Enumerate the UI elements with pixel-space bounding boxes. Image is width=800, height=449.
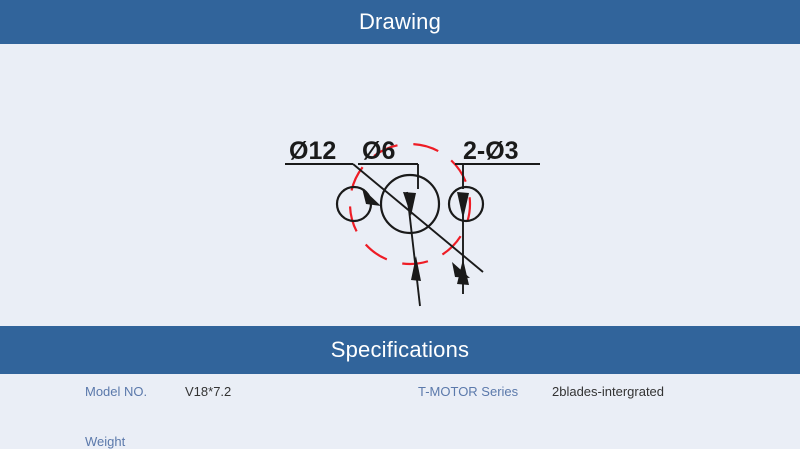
spec-value-model-no: V18*7.2 bbox=[185, 384, 231, 400]
section-header-specifications: Specifications bbox=[0, 326, 800, 374]
callout-label-dia6: Ø6 bbox=[362, 137, 395, 165]
technical-drawing-svg: Ø12 Ø6 2-Ø3 bbox=[0, 44, 800, 326]
callout-leader-dia12 bbox=[285, 164, 483, 278]
table-row: Model NO. V18*7.2 T-MOTOR Series 2blades… bbox=[0, 374, 800, 410]
callout-leader-2dia3 bbox=[455, 164, 540, 294]
callout-leader-dia6 bbox=[358, 164, 421, 306]
spec-label-weight: Weight bbox=[85, 434, 125, 449]
product-detail-page: Drawing bbox=[0, 0, 800, 449]
callout-label-dia12: Ø12 bbox=[289, 137, 336, 165]
spec-label-series: T-MOTOR Series bbox=[418, 384, 518, 400]
specifications-section-title: Specifications bbox=[331, 339, 470, 361]
spec-label-model-no: Model NO. bbox=[85, 384, 147, 400]
drawing-canvas: Ø12 Ø6 2-Ø3 bbox=[0, 44, 800, 326]
specifications-table: Model NO. V18*7.2 T-MOTOR Series 2blades… bbox=[0, 374, 800, 449]
callout-label-2dia3: 2-Ø3 bbox=[463, 137, 519, 165]
table-row: Weight bbox=[0, 424, 800, 449]
section-header-drawing: Drawing bbox=[0, 0, 800, 44]
drawing-section-title: Drawing bbox=[359, 11, 441, 33]
spec-value-series: 2blades-intergrated bbox=[552, 384, 664, 400]
